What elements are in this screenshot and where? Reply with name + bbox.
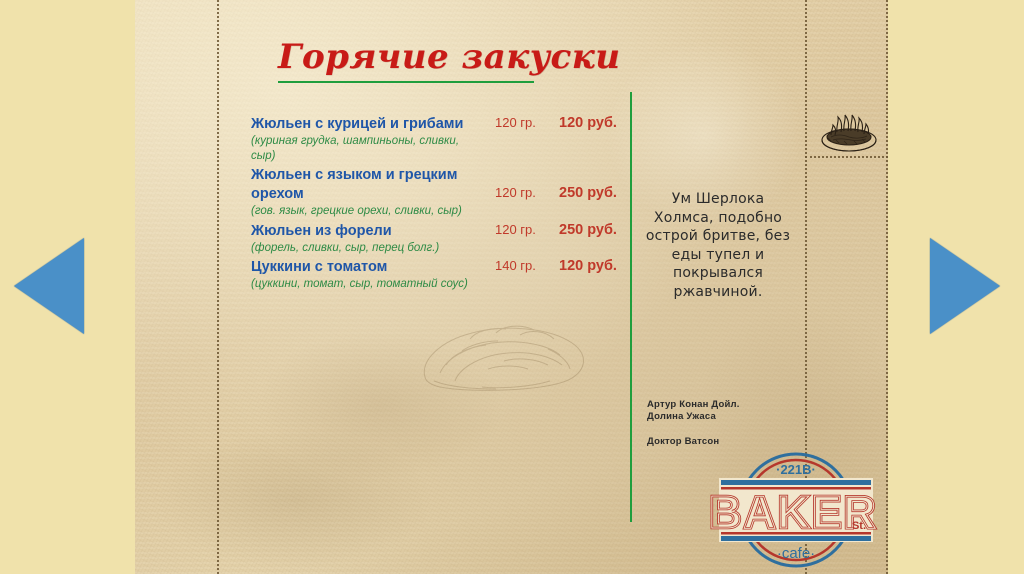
menu-item-price: 120 руб. [559, 258, 617, 274]
menu-item: Цуккини с томатом 140 гр. 120 руб. (цукк… [251, 258, 629, 292]
quote-source: Долина Ужаса [647, 411, 807, 423]
quote-author: Артур Конан Дойл. [647, 399, 807, 411]
previous-slide-arrow-icon[interactable] [14, 238, 84, 334]
quote-text: Ум Шерлока Холмса, подобно острой бритве… [643, 190, 793, 301]
menu-slide: Горячие закуски Жюльен с курицей и гриба… [135, 0, 888, 574]
paper-texture-stain [155, 430, 435, 570]
flaming-dish-icon [811, 113, 887, 155]
menu-item-name: Жюльен из форели [251, 222, 392, 241]
menu-item: Жюльен из форели 120 гр. 250 руб. (форел… [251, 222, 629, 256]
menu-item: Жюльен с языком и грецким орехом 120 гр.… [251, 166, 629, 219]
menu-item-weight: 120 гр. [495, 222, 536, 237]
menu-item-description: (цуккини, томат, сыр, томатный соус) [251, 277, 471, 292]
next-slide-arrow-icon[interactable] [930, 238, 1000, 334]
menu-item-description: (форель, сливки, сыр, перец болг.) [251, 241, 471, 256]
menu-items-list: Жюльен с курицей и грибами 120 гр. 120 р… [251, 115, 629, 295]
menu-item-description: (куриная грудка, шампиньоны, сливки, сыр… [251, 134, 471, 163]
quote-block: Ум Шерлока Холмса, подобно острой бритве… [643, 190, 793, 301]
menu-item-name: Жюльен с курицей и грибами [251, 115, 463, 134]
title-underline [278, 81, 534, 83]
logo-suffix-text: St. [852, 520, 866, 532]
menu-item: Жюльен с курицей и грибами 120 гр. 120 р… [251, 115, 629, 163]
menu-item-weight: 120 гр. [495, 115, 536, 130]
dotted-guide-line-left [217, 0, 219, 574]
menu-item-weight: 140 гр. [495, 258, 536, 273]
dotted-guide-line-horizontal [805, 156, 888, 158]
baker-cafe-logo: ·221B· BAKER BAKER St. ·cafe· [709, 447, 884, 574]
quote-attribution: Артур Конан Дойл. Долина Ужаса Доктор Ва… [647, 399, 807, 448]
menu-item-name: Цуккини с томатом [251, 258, 387, 277]
page-title: Горячие закуски [278, 36, 568, 78]
menu-item-price: 250 руб. [559, 185, 617, 201]
presentation-viewer: Горячие закуски Жюльен с курицей и гриба… [0, 0, 1024, 574]
menu-item-weight: 120 гр. [495, 185, 536, 200]
menu-item-price: 250 руб. [559, 222, 617, 238]
green-vertical-divider [630, 92, 632, 522]
title-block: Горячие закуски [278, 36, 568, 83]
menu-item-name: Жюльен с языком и грецким орехом [251, 166, 487, 204]
logo-top-text: ·221B· [776, 462, 816, 477]
dotted-guide-line-far-right [886, 0, 888, 574]
menu-item-description: (гов. язык, грецкие орехи, сливки, сыр) [251, 204, 471, 219]
menu-item-price: 120 руб. [559, 115, 617, 131]
logo-bottom-text: ·cafe· [777, 545, 815, 562]
roast-meat-illustration [400, 295, 610, 405]
